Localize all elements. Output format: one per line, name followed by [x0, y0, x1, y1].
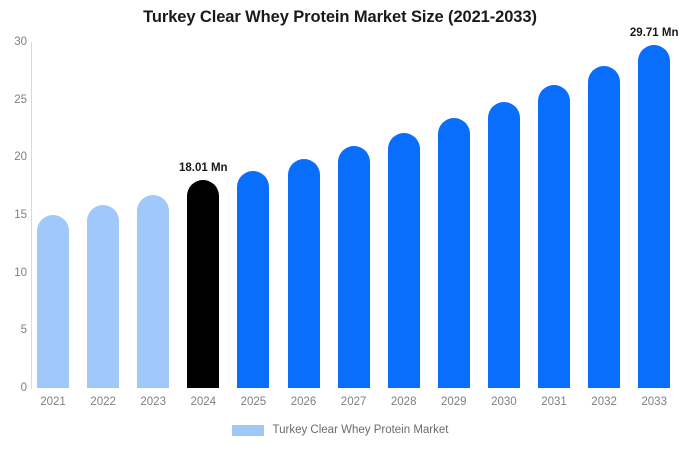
bar-value-label-2033: 29.71 Mn: [630, 27, 679, 39]
bar-2029[interactable]: [438, 118, 470, 388]
y-axis-tick-10: 10: [3, 267, 27, 279]
bar-2030[interactable]: [488, 102, 520, 388]
legend-label-turkey-clear-whey-protein-market: Turkey Clear Whey Protein Market: [273, 424, 449, 436]
bar-2024[interactable]: [187, 180, 219, 388]
y-axis-tick-30: 30: [3, 36, 27, 48]
bar-2031[interactable]: [538, 85, 570, 388]
bar-group-2023[interactable]: [137, 42, 169, 388]
bar-2026[interactable]: [288, 159, 320, 389]
bar-2033[interactable]: [638, 45, 670, 388]
bar-group-2024[interactable]: 18.01 Mn: [187, 42, 219, 388]
bar-group-2033[interactable]: 29.71 Mn: [638, 42, 670, 388]
bar-group-2025[interactable]: [237, 42, 269, 388]
bar-value-label-2024: 18.01 Mn: [179, 162, 228, 174]
bar-2027[interactable]: [338, 146, 370, 388]
bar-group-2026[interactable]: [288, 42, 320, 388]
legend-swatch-turkey-clear-whey-protein-market: [232, 425, 264, 436]
bar-2032[interactable]: [588, 66, 620, 388]
bar-group-2031[interactable]: [538, 42, 570, 388]
y-axis-tick-20: 20: [3, 151, 27, 163]
bar-chart: Turkey Clear Whey Protein Market Size (2…: [0, 0, 680, 450]
y-axis-tick-15: 15: [3, 209, 27, 221]
y-axis-tick-25: 25: [3, 94, 27, 106]
bar-group-2027[interactable]: [338, 42, 370, 388]
bar-group-2028[interactable]: [388, 42, 420, 388]
bar-group-2021[interactable]: [37, 42, 69, 388]
bar-2028[interactable]: [388, 133, 420, 388]
chart-title: Turkey Clear Whey Protein Market Size (2…: [0, 8, 680, 27]
bar-2022[interactable]: [87, 205, 119, 388]
bar-2025[interactable]: [237, 171, 269, 388]
x-axis-tick-2033: 2033: [624, 396, 680, 408]
y-axis-tick-5: 5: [3, 324, 27, 336]
chart-legend: Turkey Clear Whey Protein Market: [0, 424, 680, 436]
plot-area: 18.01 Mn29.71 Mn: [31, 42, 680, 388]
bar-group-2029[interactable]: [438, 42, 470, 388]
y-axis-tick-0: 0: [3, 382, 27, 394]
bar-group-2022[interactable]: [87, 42, 119, 388]
y-axis-tick-labels: 051015202530: [0, 0, 27, 450]
bar-group-2032[interactable]: [588, 42, 620, 388]
bar-2023[interactable]: [137, 195, 169, 388]
bar-group-2030[interactable]: [488, 42, 520, 388]
bar-2021[interactable]: [37, 215, 69, 388]
